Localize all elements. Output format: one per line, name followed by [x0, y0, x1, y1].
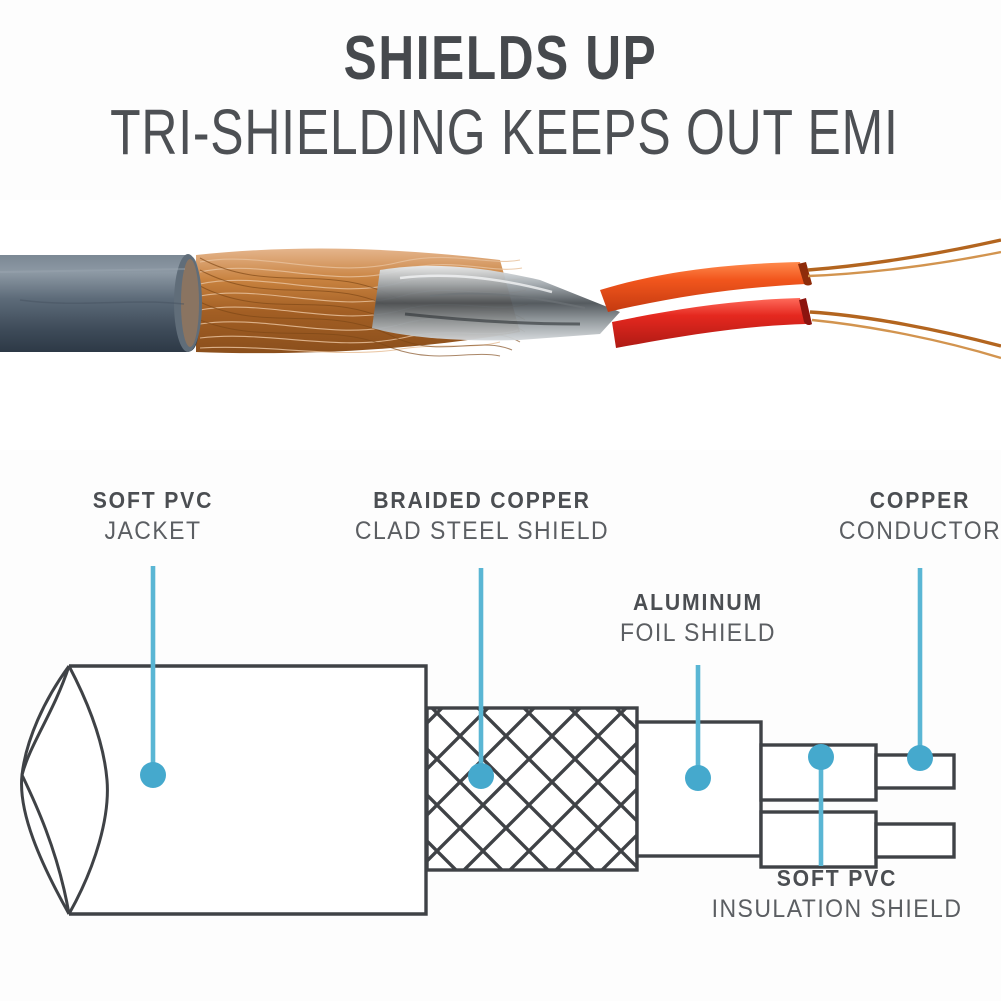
conductor-lower: [876, 824, 954, 857]
callout-copper-conductor-line2: CONDUCTOR: [800, 515, 1001, 548]
foil-shield-box: [637, 722, 761, 856]
copper-wire-upper-2: [808, 252, 1001, 276]
callout-soft-pvc-insulation-line1: SOFT PVC: [685, 863, 989, 893]
red-insulated-conductor: [612, 298, 812, 348]
conductor-upper: [876, 755, 954, 788]
leader-dot-soft-pvc-insulation: [808, 744, 834, 770]
callout-aluminum-foil-shield: ALUMINUM FOIL SHIELD: [578, 587, 818, 650]
infographic-root: SHIELDS UP TRI-SHIELDING KEEPS OUT EMI: [0, 0, 1001, 1001]
copper-wire-upper: [808, 240, 1001, 270]
callout-copper-conductor: COPPER CONDUCTOR: [790, 485, 1001, 548]
leader-dot-aluminum-foil: [685, 765, 711, 791]
callout-soft-pvc-insulation-line2: INSULATION SHIELD: [685, 893, 989, 926]
callout-braided-copper-shield-line2: CLAD STEEL SHIELD: [335, 515, 629, 548]
pvc-insulation-upper: [761, 745, 876, 800]
callout-aluminum-foil-shield-line1: ALUMINUM: [588, 587, 809, 617]
header: SHIELDS UP TRI-SHIELDING KEEPS OUT EMI: [0, 0, 1001, 195]
cable-photo-illustration: [0, 200, 1001, 450]
callout-soft-pvc-jacket-line1: SOFT PVC: [37, 485, 269, 515]
aluminum-foil: [372, 266, 620, 340]
braid-mesh: [427, 708, 637, 870]
page-subtitle: TRI-SHIELDING KEEPS OUT EMI: [110, 100, 891, 164]
leader-dot-copper-conductor: [907, 745, 933, 771]
callout-soft-pvc-jacket-line2: JACKET: [37, 515, 269, 548]
jacket-body: [22, 666, 426, 914]
callout-soft-pvc-jacket: SOFT PVC JACKET: [27, 485, 279, 548]
leader-dot-soft-pvc-jacket: [140, 762, 166, 788]
page-title: SHIELDS UP: [100, 28, 901, 90]
copper-wire-lower: [810, 312, 1001, 346]
callout-copper-conductor-line1: COPPER: [800, 485, 1001, 515]
cable-photograph: [0, 200, 1001, 450]
callout-braided-copper-shield-line1: BRAIDED COPPER: [335, 485, 629, 515]
leader-dot-braided-copper: [468, 763, 494, 789]
callout-aluminum-foil-shield-line2: FOIL SHIELD: [588, 617, 809, 650]
callout-braided-copper-shield: BRAIDED COPPER CLAD STEEL SHIELD: [322, 485, 642, 548]
pvc-jacket-photo: [0, 254, 202, 352]
callout-soft-pvc-insulation: SOFT PVC INSULATION SHIELD: [672, 863, 1001, 926]
pvc-insulation-lower: [761, 812, 876, 867]
